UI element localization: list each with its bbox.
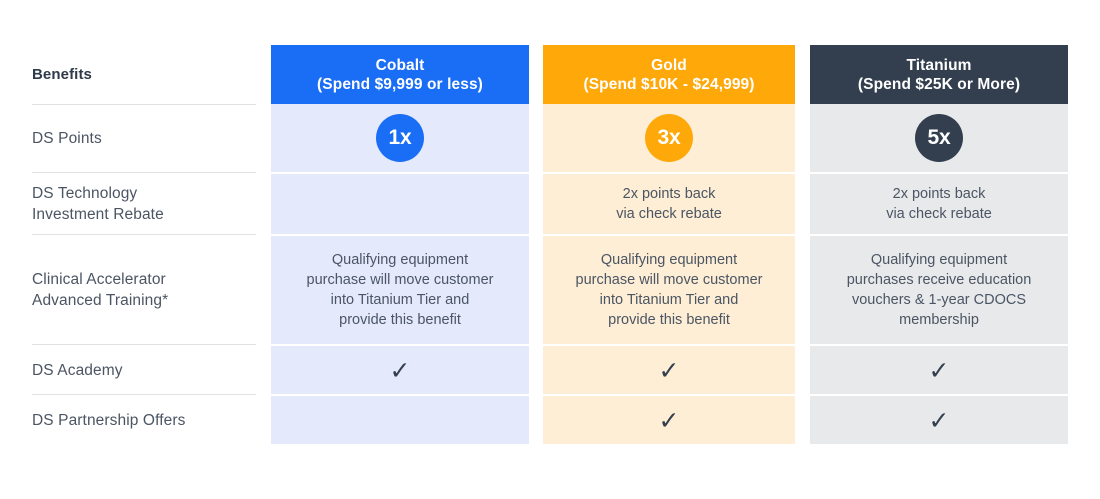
cell-ds-partnership-gold: ✓	[543, 396, 795, 444]
check-icon: ✓	[659, 408, 680, 433]
benefit-label-line-1: Clinical Accelerator	[32, 271, 166, 288]
cell-line-1: 2x points back	[893, 186, 986, 202]
divider-row-3	[32, 344, 256, 345]
cell-line-3: vouchers & 1-year CDOCS	[852, 292, 1026, 308]
cell-text: 2x points back via check rebate	[606, 184, 732, 224]
benefit-label-ds-partnership-offers: DS Partnership Offers	[32, 396, 256, 444]
tier-header-titanium: Titanium (Spend $25K or More)	[810, 45, 1068, 104]
cell-line-2: purchases receive education	[847, 272, 1032, 288]
cell-line-1: Qualifying equipment	[871, 252, 1007, 268]
cell-line-2: via check rebate	[616, 206, 722, 222]
cell-clinical-accelerator-gold: Qualifying equipment purchase will move …	[543, 236, 795, 344]
cell-ds-points-gold: 3x	[543, 104, 795, 172]
cell-line-1: Qualifying equipment	[332, 252, 468, 268]
cell-line-3: into Titanium Tier and	[331, 292, 470, 308]
cell-line-2: purchase will move customer	[576, 272, 763, 288]
divider-row-4	[32, 394, 256, 395]
tier-name-gold: Gold	[651, 56, 687, 75]
check-icon: ✓	[659, 358, 680, 383]
tier-spend-cobalt: (Spend $9,999 or less)	[317, 75, 483, 94]
divider-row-1	[32, 172, 256, 173]
benefit-label-text: DS Technology Investment Rebate	[32, 183, 164, 225]
benefit-label-ds-points: DS Points	[32, 104, 256, 172]
tier-spend-gold: (Spend $10K - $24,999)	[583, 75, 754, 94]
tier-comparison-table: Benefits Cobalt (Spend $9,999 or less) G…	[0, 0, 1100, 499]
benefit-label-ds-academy: DS Academy	[32, 346, 256, 394]
tier-spend-titanium: (Spend $25K or More)	[858, 75, 1020, 94]
cell-ds-partnership-cobalt	[271, 396, 529, 444]
cell-line-2: purchase will move customer	[307, 272, 494, 288]
cell-ds-academy-cobalt: ✓	[271, 346, 529, 394]
cell-clinical-accelerator-titanium: Qualifying equipment purchases receive e…	[810, 236, 1068, 344]
cell-text: 2x points back via check rebate	[876, 184, 1002, 224]
cell-line-4: membership	[899, 312, 979, 328]
tier-header-cobalt: Cobalt (Spend $9,999 or less)	[271, 45, 529, 104]
cell-ds-points-titanium: 5x	[810, 104, 1068, 172]
benefits-column-header: Benefits	[32, 45, 256, 104]
cell-ds-academy-gold: ✓	[543, 346, 795, 394]
benefit-label-line-2: Investment Rebate	[32, 206, 164, 223]
badge-points-cobalt: 1x	[376, 114, 424, 162]
tier-name-titanium: Titanium	[906, 56, 971, 75]
cell-line-1: 2x points back	[623, 186, 716, 202]
cell-ds-technology-titanium: 2x points back via check rebate	[810, 174, 1068, 234]
check-icon: ✓	[929, 408, 950, 433]
tier-header-gold: Gold (Spend $10K - $24,999)	[543, 45, 795, 104]
benefit-label-line-1: DS Technology	[32, 185, 137, 202]
benefit-label-clinical-accelerator-advanced-training: Clinical Accelerator Advanced Training*	[32, 236, 256, 344]
cell-text: Qualifying equipment purchase will move …	[566, 250, 773, 330]
cell-line-3: into Titanium Tier and	[600, 292, 739, 308]
cell-ds-academy-titanium: ✓	[810, 346, 1068, 394]
cell-text: Qualifying equipment purchase will move …	[297, 250, 504, 330]
check-icon: ✓	[390, 358, 411, 383]
benefit-label-text: Clinical Accelerator Advanced Training*	[32, 269, 168, 311]
divider-row-2	[32, 234, 256, 235]
badge-points-titanium: 5x	[915, 114, 963, 162]
cell-ds-technology-gold: 2x points back via check rebate	[543, 174, 795, 234]
cell-clinical-accelerator-cobalt: Qualifying equipment purchase will move …	[271, 236, 529, 344]
cell-line-1: Qualifying equipment	[601, 252, 737, 268]
check-icon: ✓	[929, 358, 950, 383]
cell-line-2: via check rebate	[886, 206, 992, 222]
cell-ds-technology-cobalt	[271, 174, 529, 234]
benefit-label-ds-technology-investment-rebate: DS Technology Investment Rebate	[32, 174, 256, 234]
cell-line-4: provide this benefit	[608, 312, 730, 328]
cell-ds-partnership-titanium: ✓	[810, 396, 1068, 444]
badge-points-gold: 3x	[645, 114, 693, 162]
benefit-label-line-2: Advanced Training*	[32, 292, 168, 309]
cell-line-4: provide this benefit	[339, 312, 461, 328]
cell-text: Qualifying equipment purchases receive e…	[837, 250, 1042, 330]
cell-ds-points-cobalt: 1x	[271, 104, 529, 172]
tier-name-cobalt: Cobalt	[376, 56, 425, 75]
